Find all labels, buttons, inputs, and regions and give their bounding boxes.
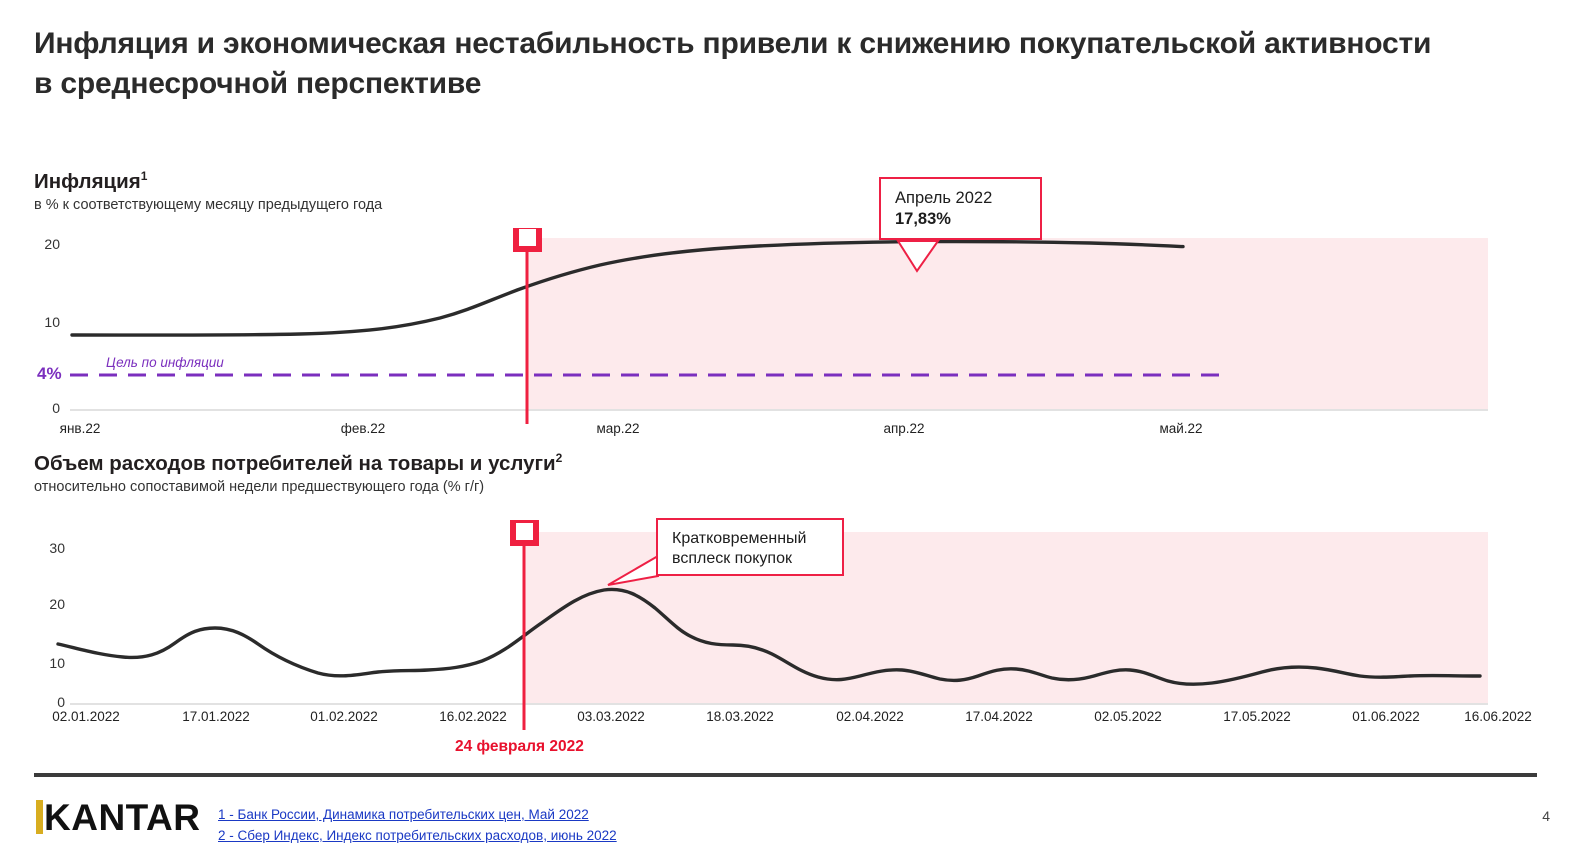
inflation-chart-svg xyxy=(0,228,1571,424)
page-title: Инфляция и экономическая нестабильность … xyxy=(34,24,1454,103)
inflation-xtick-0: янв.22 xyxy=(35,421,125,436)
inflation-xtick-2: мар.22 xyxy=(573,421,663,436)
spending-title-text: Объем расходов потребителей на товары и … xyxy=(34,452,556,475)
inflation-ytick-0: 0 xyxy=(20,400,60,416)
spending-xtick-0: 02.01.2022 xyxy=(16,709,156,724)
event-marker-handle-chart1[interactable] xyxy=(516,228,539,249)
inflation-ytick-10: 10 xyxy=(20,314,60,330)
spending-ytick-20: 20 xyxy=(20,596,65,612)
spending-xtick-2: 01.02.2022 xyxy=(274,709,414,724)
event-marker-handle-chart2[interactable] xyxy=(513,520,536,543)
inflation-chart xyxy=(0,228,1571,424)
event-marker-label: 24 февраля 2022 xyxy=(455,738,584,756)
footnote-links: 1 - Банк России, Динамика потребительски… xyxy=(218,805,617,847)
inflation-callout-line1: Апрель 2022 xyxy=(895,188,1026,209)
inflation-xtick-1: фев.22 xyxy=(318,421,408,436)
footer-divider xyxy=(34,773,1537,777)
spending-subtitle: относительно сопоставимой недели предшес… xyxy=(34,479,562,496)
inflation-xtick-3: апр.22 xyxy=(859,421,949,436)
footnote-link-2[interactable]: 2 - Сбер Индекс, Индекс потребительских … xyxy=(218,826,617,847)
inflation-subtitle: в % к соответствующему месяцу предыдущег… xyxy=(34,197,382,214)
inflation-target-value-label: 4% xyxy=(37,364,62,384)
spending-callout[interactable]: Кратковременный всплеск покупок xyxy=(656,518,844,576)
kantar-logo: KANTAR xyxy=(36,799,200,836)
inflation-title-footnote-marker: 1 xyxy=(141,169,148,183)
inflation-title: Инфляция1 xyxy=(34,170,382,193)
spending-xtick-4: 03.03.2022 xyxy=(541,709,681,724)
inflation-shaded-region xyxy=(527,238,1488,410)
spending-title: Объем расходов потребителей на товары и … xyxy=(34,452,562,475)
inflation-title-text: Инфляция xyxy=(34,170,141,193)
inflation-ytick-20: 20 xyxy=(20,236,60,252)
footnote-link-1[interactable]: 1 - Банк России, Динамика потребительски… xyxy=(218,805,617,826)
spending-xtick-6: 02.04.2022 xyxy=(800,709,940,724)
spending-xtick-11: 16.06.2022 xyxy=(1428,709,1568,724)
spending-title-footnote-marker: 2 xyxy=(556,451,563,465)
slide: Инфляция и экономическая нестабильность … xyxy=(0,0,1571,857)
spending-ytick-30: 30 xyxy=(20,540,65,556)
spending-callout-line1: Кратковременный xyxy=(672,529,828,549)
spending-xtick-1: 17.01.2022 xyxy=(146,709,286,724)
spending-section-header: Объем расходов потребителей на товары и … xyxy=(34,452,562,497)
inflation-xtick-4: май.22 xyxy=(1136,421,1226,436)
spending-xtick-3: 16.02.2022 xyxy=(403,709,543,724)
inflation-callout-line2: 17,83% xyxy=(895,209,1026,230)
kantar-logo-accent-bar xyxy=(36,800,43,834)
kantar-logo-text: KANTAR xyxy=(44,797,200,838)
inflation-section-header: Инфляция1 в % к соответствующему месяцу … xyxy=(34,170,382,215)
spending-xtick-9: 17.05.2022 xyxy=(1187,709,1327,724)
spending-callout-line2: всплеск покупок xyxy=(672,549,828,569)
spending-ytick-10: 10 xyxy=(20,655,65,671)
inflation-callout[interactable]: Апрель 2022 17,83% xyxy=(879,177,1042,240)
spending-xtick-8: 02.05.2022 xyxy=(1058,709,1198,724)
spending-ytick-0: 0 xyxy=(20,694,65,710)
spending-xtick-5: 18.03.2022 xyxy=(670,709,810,724)
page-number: 4 xyxy=(1542,808,1550,824)
spending-xtick-7: 17.04.2022 xyxy=(929,709,1069,724)
inflation-target-text: Цель по инфляции xyxy=(106,355,224,370)
